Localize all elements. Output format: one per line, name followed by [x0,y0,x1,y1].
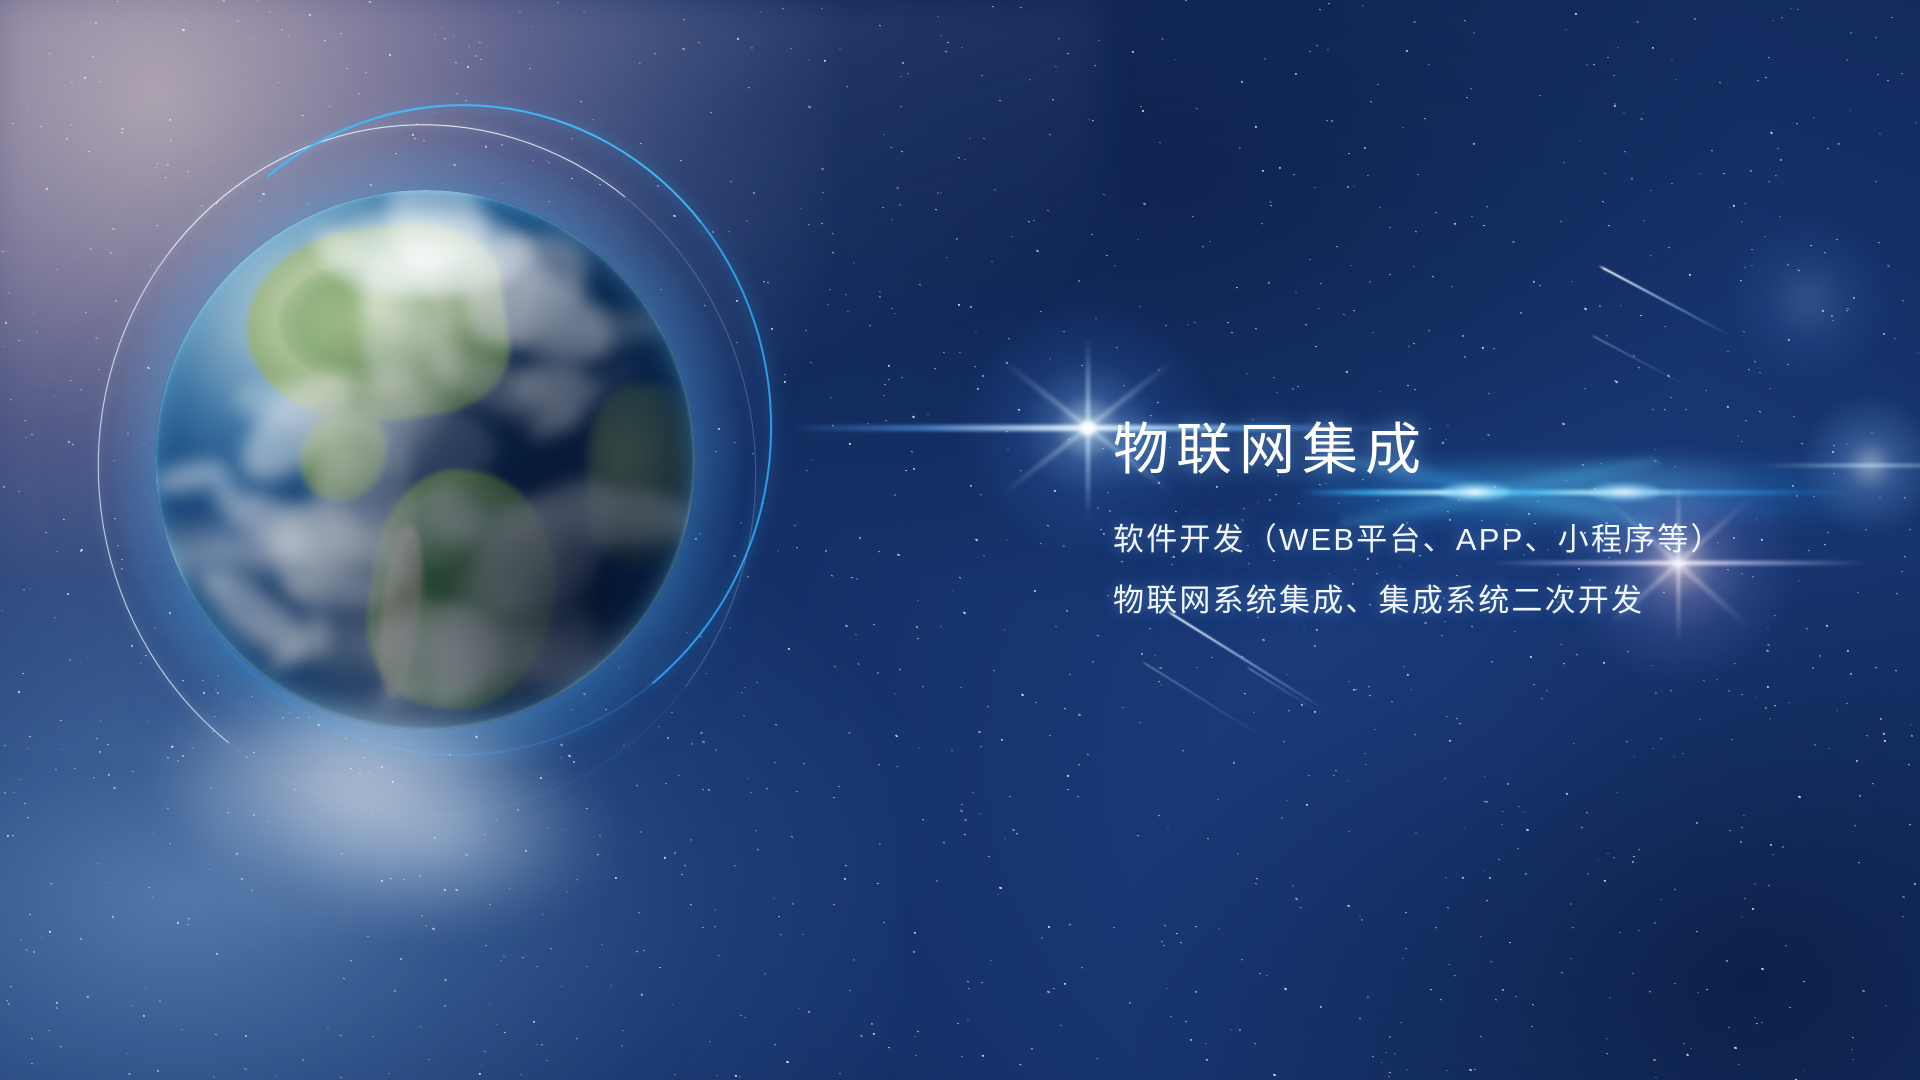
subtitle-line-1: 软件开发（WEB平台、APP、小程序等） [1113,510,1873,570]
subtitle-line-2: 物联网系统集成、集成系统二次开发 [1113,571,1873,631]
hero-banner: 物联网集成 软件开发（WEB平台、APP、小程序等） 物联网系统集成、集成系统二… [0,0,1920,1080]
hero-copy: 物联网集成 软件开发（WEB平台、APP、小程序等） 物联网系统集成、集成系统二… [1113,420,1873,631]
page-title: 物联网集成 [1113,420,1873,480]
hero-subtitle: 软件开发（WEB平台、APP、小程序等） 物联网系统集成、集成系统二次开发 [1113,510,1873,631]
